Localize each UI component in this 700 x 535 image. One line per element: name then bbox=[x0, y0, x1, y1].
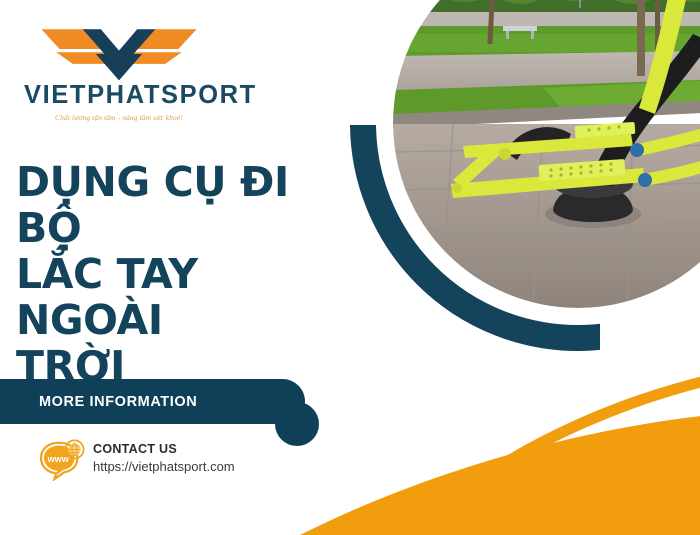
more-information-button[interactable]: MORE INFORMATION bbox=[0, 379, 305, 424]
v-wings-logo-icon bbox=[35, 16, 203, 82]
orange-thick-wave bbox=[295, 414, 700, 535]
www-speech-bubble-icon: www bbox=[38, 437, 88, 481]
headline-line-1: DỤNG CỤ ĐI BỘ bbox=[16, 160, 356, 252]
contact-title: CONTACT US bbox=[93, 442, 235, 458]
contact-block[interactable]: www CONTACT US https://vietphatsport.com bbox=[38, 437, 235, 481]
contact-url[interactable]: https://vietphatsport.com bbox=[93, 459, 235, 476]
headline-line-2: LẮC TAY NGOÀI bbox=[16, 252, 356, 344]
contact-text: CONTACT US https://vietphatsport.com bbox=[93, 442, 235, 476]
brand-name: VIETPHATSPORT bbox=[24, 83, 214, 109]
brand-logo: VIETPHATSPORT Chất lượng tận tâm - nâng … bbox=[24, 16, 214, 122]
more-information-label: MORE INFORMATION bbox=[39, 394, 197, 410]
page-title: DỤNG CỤ ĐI BỘ LẮC TAY NGOÀI TRỜI bbox=[16, 160, 356, 390]
svg-text:www: www bbox=[47, 454, 70, 464]
brand-tagline: Chất lượng tận tâm - nâng tầm sức khoẻ! bbox=[24, 113, 214, 122]
promo-poster: VIETPHATSPORT Chất lượng tận tâm - nâng … bbox=[0, 0, 700, 535]
